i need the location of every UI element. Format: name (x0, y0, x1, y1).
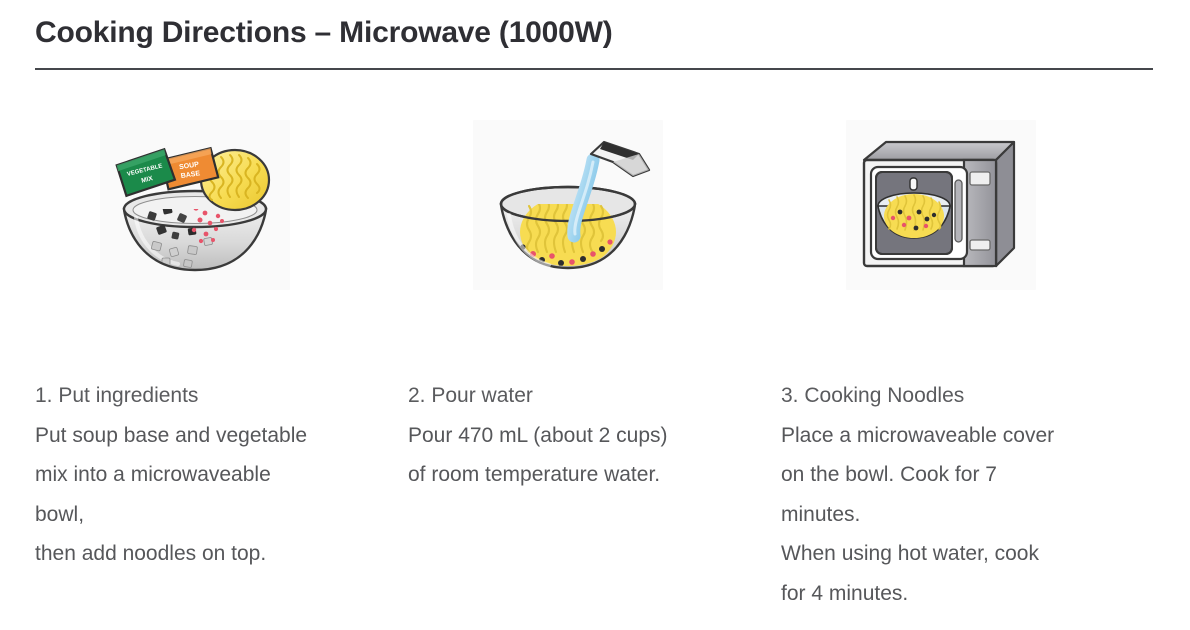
step-3-caption: 3. Cooking Noodles Place a microwaveable… (781, 376, 1154, 613)
step-2-heading: 2. Pour water (408, 376, 781, 416)
vegetable-mix-packet: VEGETABLE MIX (116, 149, 176, 197)
cooking-directions-page: Cooking Directions – Microwave (1000W) (0, 0, 1190, 630)
step-3-heading: 3. Cooking Noodles (781, 376, 1154, 416)
microwave-start-button[interactable] (970, 240, 990, 250)
microwave-top (864, 142, 1014, 160)
step-1-line-4: then add noodles on top. (35, 534, 408, 574)
step-column-2: 2. Pour water Pour 470 mL (about 2 cups)… (408, 120, 781, 495)
step-3-figure (846, 120, 1036, 290)
microwave-handle[interactable] (955, 180, 962, 242)
step-3-line-5: for 4 minutes. (781, 574, 1154, 614)
page-header: Cooking Directions – Microwave (1000W) (35, 14, 1153, 70)
step-2-figure (473, 120, 663, 290)
step-3-line-4: When using hot water, cook (781, 534, 1154, 574)
page-title: Cooking Directions – Microwave (1000W) (35, 14, 1153, 52)
step-2-line-1: Pour 470 mL (about 2 cups) (408, 416, 781, 456)
step-3-line-1: Place a microwaveable cover (781, 416, 1154, 456)
step-1-line-1: Put soup base and vegetable (35, 416, 408, 456)
step-3-line-3: minutes. (781, 495, 1154, 535)
bowl-with-ingredients-icon: SOUP BASE VEGETABLE MIX (100, 120, 290, 290)
step-3-line-2: on the bowl. Cook for 7 (781, 455, 1154, 495)
pouring-water-icon (473, 120, 663, 290)
step-2-caption: 2. Pour water Pour 470 mL (about 2 cups)… (408, 376, 781, 495)
step-1-figure: SOUP BASE VEGETABLE MIX (100, 120, 290, 290)
step-column-3: 3. Cooking Noodles Place a microwaveable… (781, 120, 1154, 613)
step-1-line-2: mix into a microwaveable (35, 455, 408, 495)
water-pitcher (591, 142, 649, 176)
title-divider (35, 68, 1153, 70)
microwave-display[interactable] (970, 172, 990, 185)
step-1-caption: 1. Put ingredients Put soup base and veg… (35, 376, 408, 574)
step-1-heading: 1. Put ingredients (35, 376, 408, 416)
oven-lamp-icon (910, 178, 917, 190)
step-1-line-3: bowl, (35, 495, 408, 535)
step-2-line-2: of room temperature water. (408, 455, 781, 495)
step-column-1: SOUP BASE VEGETABLE MIX 1. Put ingredien… (35, 120, 408, 574)
microwave-icon (846, 120, 1036, 290)
steps-container: SOUP BASE VEGETABLE MIX 1. Put ingredien… (35, 120, 1155, 613)
